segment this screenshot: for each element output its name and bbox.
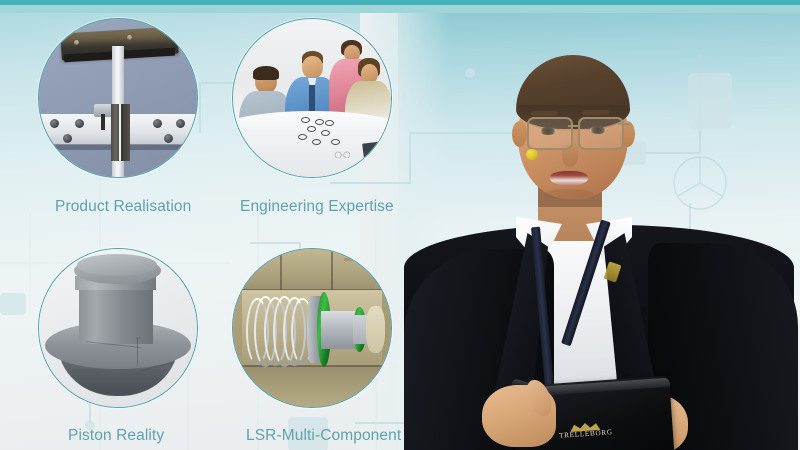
caption-piston-reality: Piston Reality xyxy=(68,427,164,445)
presenter-speaker: TRELLEBORG xyxy=(398,13,800,450)
top-accent-bar-light xyxy=(0,5,800,13)
coil-spring xyxy=(246,296,309,362)
eyeglasses-prop xyxy=(333,145,354,153)
mouth-speaking xyxy=(550,171,588,186)
thumbnail-lsr-multi-component[interactable] xyxy=(232,248,392,408)
eyebrow-left xyxy=(531,111,558,116)
thumbnail-engineering-expertise[interactable] xyxy=(232,18,392,178)
slide-canvas: Product Realisation xyxy=(0,0,800,450)
chin-shadow xyxy=(544,189,594,199)
nose xyxy=(562,145,578,167)
tensile-test-fixture-photo xyxy=(39,19,197,177)
thumbnail-piston-reality[interactable] xyxy=(38,248,198,408)
eyebrow-right xyxy=(582,110,609,115)
caption-lsr-multi-component: LSR-Multi-Component xyxy=(246,427,401,445)
thumbnail-product-realisation[interactable] xyxy=(38,18,198,178)
ear-left xyxy=(512,121,527,147)
lsr-assembly-cad-cross-section xyxy=(233,249,391,407)
caption-engineering-expertise: Engineering Expertise xyxy=(240,198,394,216)
earpiece-microphone-icon xyxy=(526,149,538,160)
piston-cad-render xyxy=(39,249,197,407)
glasses-bridge xyxy=(568,125,580,127)
engineering-team-meeting-photo xyxy=(233,19,391,177)
caption-product-realisation: Product Realisation xyxy=(55,198,191,216)
